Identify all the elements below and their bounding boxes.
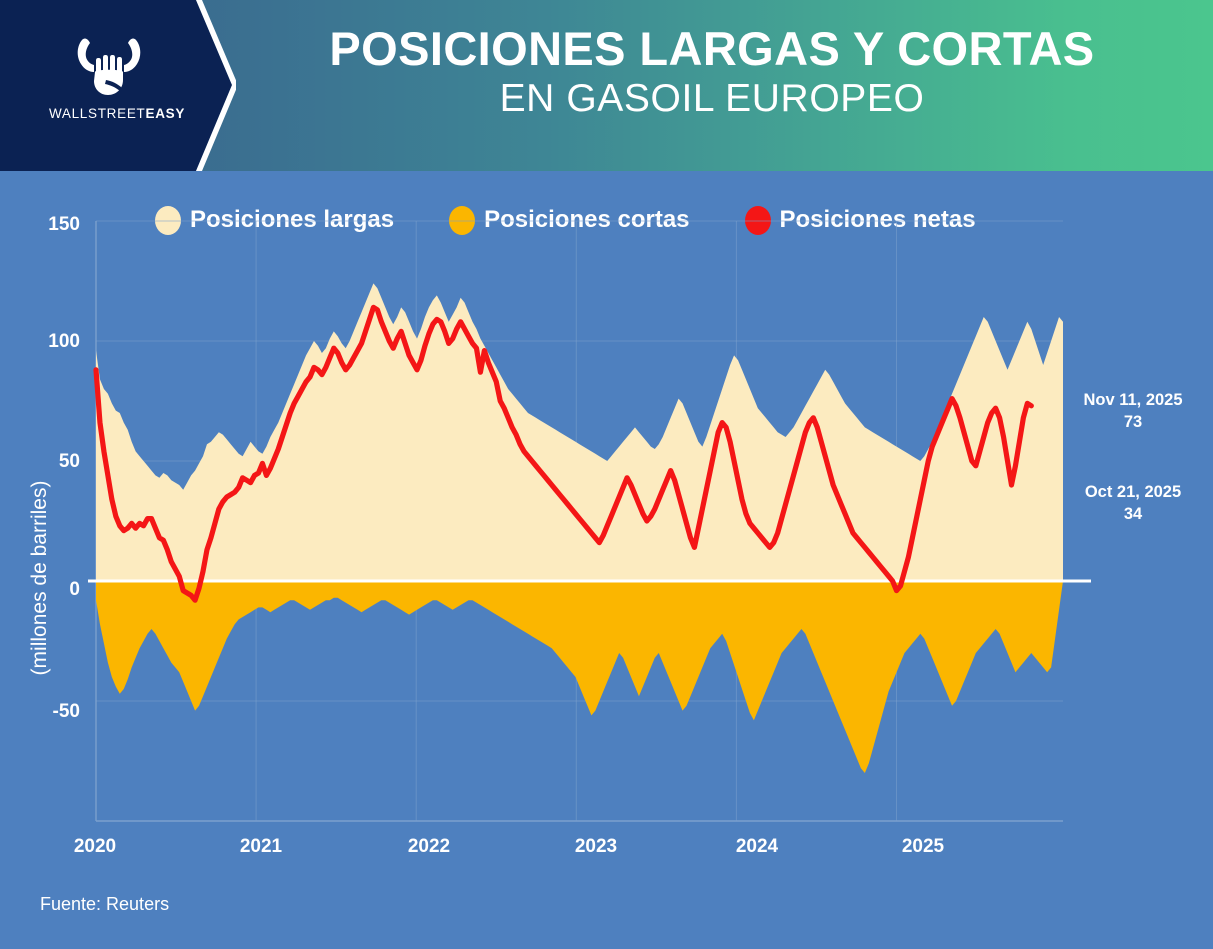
chart-plot bbox=[0, 171, 1213, 949]
annotation-prior: Oct 21, 2025 34 bbox=[1058, 481, 1208, 526]
source-credit: Fuente: Reuters bbox=[40, 894, 169, 915]
series-area-long bbox=[96, 283, 1063, 581]
logo-word-light: WALLSTREET bbox=[49, 106, 146, 121]
annotation-prior-value: 34 bbox=[1058, 503, 1208, 525]
page-subtitle: EN GASOIL EUROPEO bbox=[232, 77, 1192, 122]
bull-fist-icon bbox=[68, 36, 150, 98]
logo-word-bold: EASY bbox=[145, 106, 185, 121]
chart-area: Posiciones largas Posiciones cortas Posi… bbox=[0, 171, 1213, 949]
annotation-latest-value: 73 bbox=[1058, 411, 1208, 433]
page-title: POSICIONES LARGAS Y CORTAS bbox=[232, 24, 1192, 73]
header-banner: WALLSTREETEASY POSICIONES LARGAS Y CORTA… bbox=[0, 0, 1213, 171]
series-area-short bbox=[96, 581, 1063, 773]
title-block: POSICIONES LARGAS Y CORTAS EN GASOIL EUR… bbox=[232, 24, 1192, 122]
annotation-latest-date: Nov 11, 2025 bbox=[1058, 389, 1208, 411]
annotation-prior-date: Oct 21, 2025 bbox=[1058, 481, 1208, 503]
annotation-latest: Nov 11, 2025 73 bbox=[1058, 389, 1208, 434]
logo-wordmark: WALLSTREETEASY bbox=[42, 106, 192, 121]
infographic-page: WALLSTREETEASY POSICIONES LARGAS Y CORTA… bbox=[0, 0, 1213, 949]
